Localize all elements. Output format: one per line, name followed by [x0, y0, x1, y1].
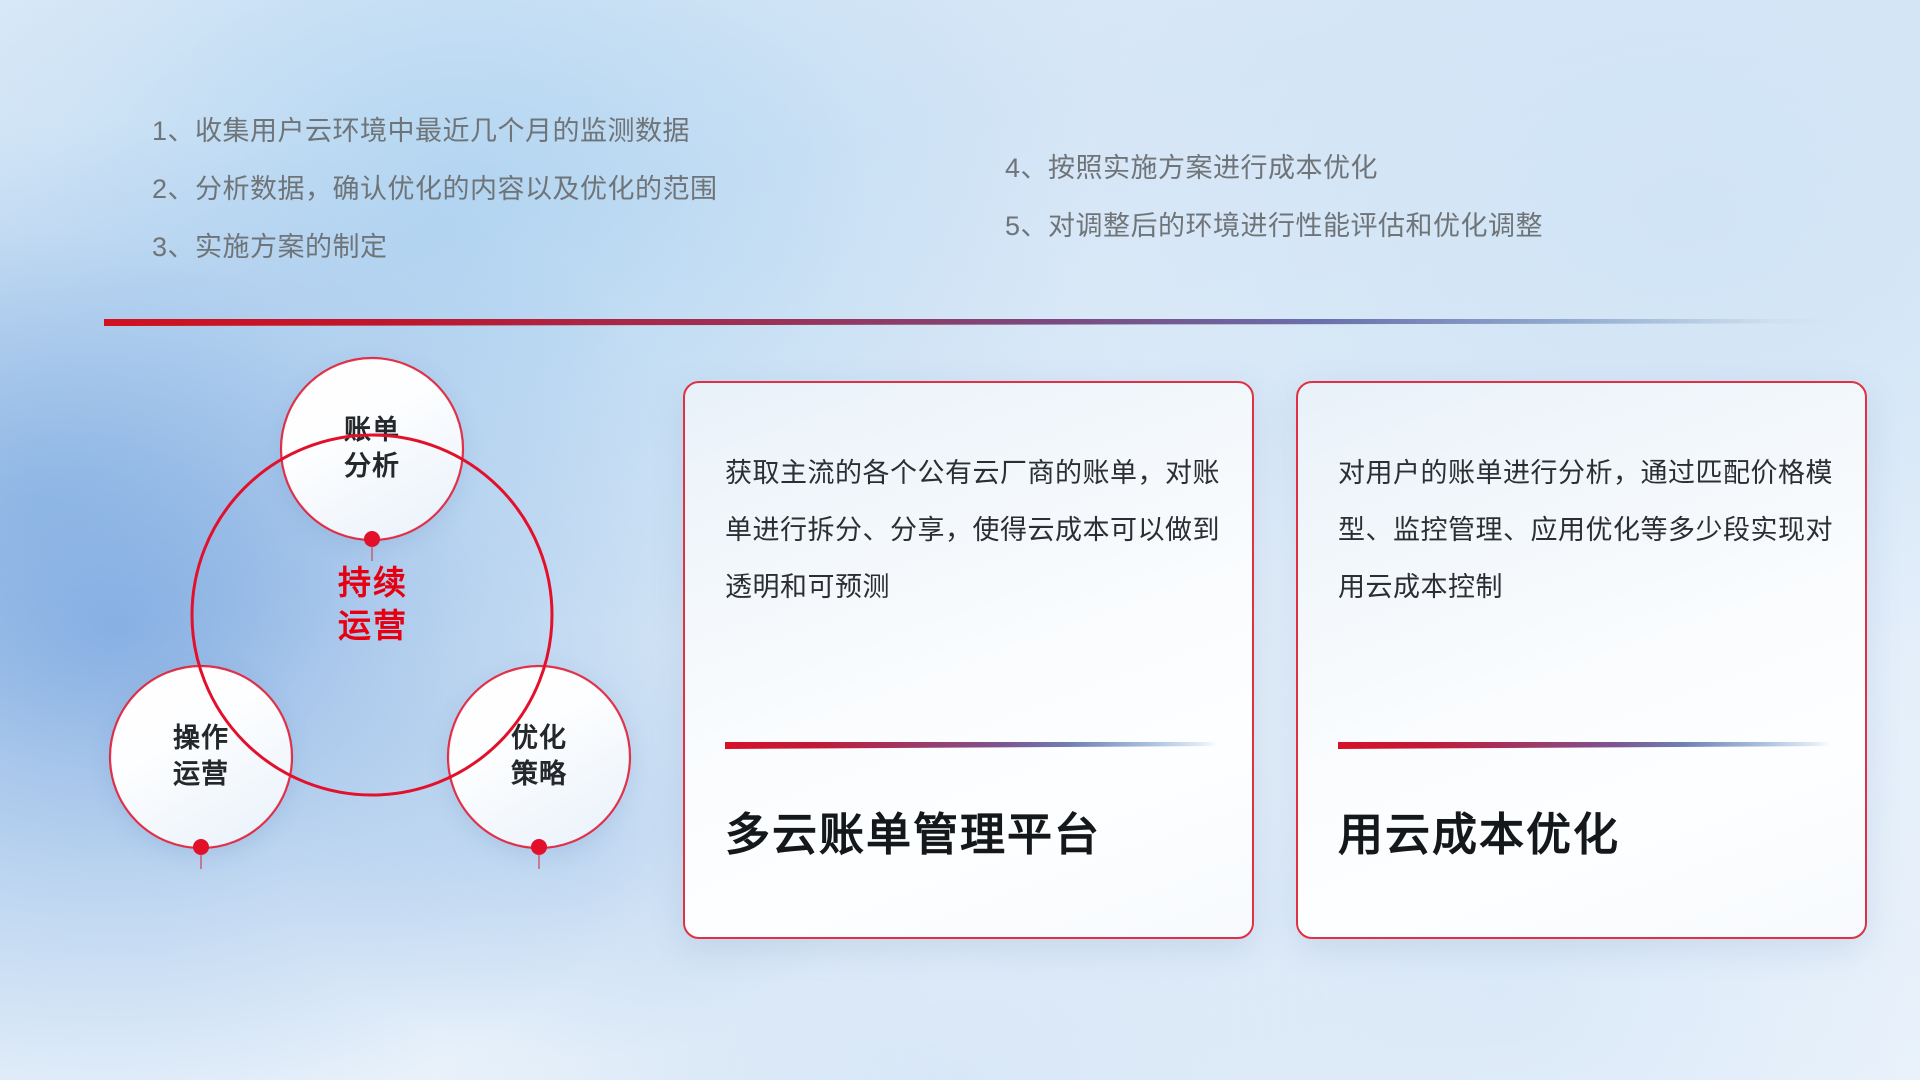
venn-rings-svg — [95, 350, 655, 960]
node-dot-left — [193, 839, 209, 855]
venn-diagram: 账单 分析 操作 运营 优化 策略 持续 运营 — [95, 350, 655, 960]
slide-canvas: 1、收集用户云环境中最近几个月的监测数据 2、分析数据，确认优化的内容以及优化的… — [0, 0, 1920, 1080]
step-item-5: 5、对调整后的环境进行性能评估和优化调整 — [1005, 213, 1543, 240]
node-dot-right — [531, 839, 547, 855]
ring-bill-analysis — [281, 358, 463, 540]
card-divider-rule — [1338, 742, 1830, 749]
step-item-3: 3、实施方案的制定 — [152, 234, 718, 261]
card-divider-rule — [725, 742, 1217, 749]
steps-list-left: 1、收集用户云环境中最近几个月的监测数据 2、分析数据，确认优化的内容以及优化的… — [152, 118, 718, 292]
step-item-2: 2、分析数据，确认优化的内容以及优化的范围 — [152, 176, 718, 203]
card-title: 用云成本优化 — [1338, 798, 1620, 863]
card-description: 对用户的账单进行分析，通过匹配价格模型、监控管理、应用优化等多少段实现对用云成本… — [1338, 445, 1833, 617]
step-item-4: 4、按照实施方案进行成本优化 — [1005, 155, 1543, 182]
feature-card-multi-cloud-billing-platform[interactable]: 获取主流的各个公有云厂商的账单，对账单进行拆分、分享，使得云成本可以做到透明和可… — [683, 381, 1254, 939]
node-dot-top — [364, 531, 380, 547]
ring-optimize-strategy — [448, 666, 630, 848]
feature-card-cloud-cost-optimization[interactable]: 对用户的账单进行分析，通过匹配价格模型、监控管理、应用优化等多少段实现对用云成本… — [1296, 381, 1867, 939]
section-divider-rule — [104, 319, 1840, 326]
steps-list-right: 4、按照实施方案进行成本优化 5、对调整后的环境进行性能评估和优化调整 — [1005, 155, 1543, 271]
step-item-1: 1、收集用户云环境中最近几个月的监测数据 — [152, 118, 718, 145]
venn-center-label: 持续 运营 — [283, 562, 463, 648]
card-description: 获取主流的各个公有云厂商的账单，对账单进行拆分、分享，使得云成本可以做到透明和可… — [725, 445, 1220, 617]
ring-operation-ops — [110, 666, 292, 848]
card-title: 多云账单管理平台 — [725, 798, 1101, 863]
